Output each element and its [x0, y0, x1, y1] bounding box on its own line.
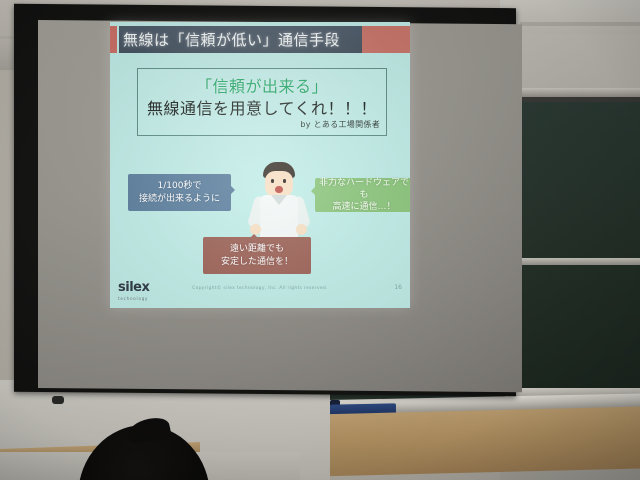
callout-latency-line2: 接続が出来るように — [139, 193, 220, 205]
projected-slide: 無線は「信頼が低い」通信手段 「信頼が出来る」 無線通信を用意してくれ！！！ b… — [110, 22, 410, 308]
quote-attribution: by とある工場関係者 — [300, 119, 380, 130]
callout-latency-line1: 1/100秒で — [158, 180, 202, 192]
title-endcap-block — [362, 26, 410, 53]
callout-latency: 1/100秒で 接続が出来るように — [128, 174, 231, 211]
callout-distance: 遠い距離でも 安定した通信を！ — [203, 237, 311, 274]
slide-title-row: 無線は「信頼が低い」通信手段 — [110, 26, 410, 53]
slide-title-text: 無線は「信頼が低い」通信手段 — [119, 29, 340, 50]
screen-frame-foot — [52, 396, 64, 404]
callout-distance-line2: 安定した通信を！ — [221, 256, 293, 268]
quote-line-2: 無線通信を用意してくれ！！！ — [138, 95, 386, 119]
character-mouth — [275, 186, 283, 193]
callout-distance-line1: 遠い距離でも — [230, 243, 284, 255]
character-left-eye — [271, 179, 274, 183]
chalkboard-middle-rail — [514, 258, 640, 265]
silex-logo-subtitle: technology — [118, 296, 149, 301]
slide-copyright: Copyright© silex technology, Inc. All ri… — [110, 286, 410, 291]
title-accent-bar — [110, 26, 117, 53]
chalkboard-right — [516, 100, 640, 390]
character-right-eye — [283, 179, 286, 183]
character-right-hand — [296, 224, 307, 235]
slide-title-bar: 無線は「信頼が低い」通信手段 — [119, 26, 362, 53]
ceiling-line — [520, 22, 640, 26]
callout-hardware-line1: 非力なハードウェアでも — [315, 177, 410, 201]
callout-hardware-line2: 高速に通信…！ — [332, 201, 395, 213]
slide-page-number: 16 — [394, 284, 402, 291]
chalkboard-top-shadow — [508, 97, 640, 102]
photo-scene: 無線は「信頼が低い」通信手段 「信頼が出来る」 無線通信を用意してくれ！！！ b… — [0, 0, 640, 480]
callout-hardware: 非力なハードウェアでも 高速に通信…！ — [315, 178, 410, 212]
character-face — [265, 171, 293, 197]
quote-line-1: 「信頼が出来る」 — [138, 73, 386, 97]
quote-box: 「信頼が出来る」 無線通信を用意してくれ！！！ by とある工場関係者 — [137, 68, 387, 136]
